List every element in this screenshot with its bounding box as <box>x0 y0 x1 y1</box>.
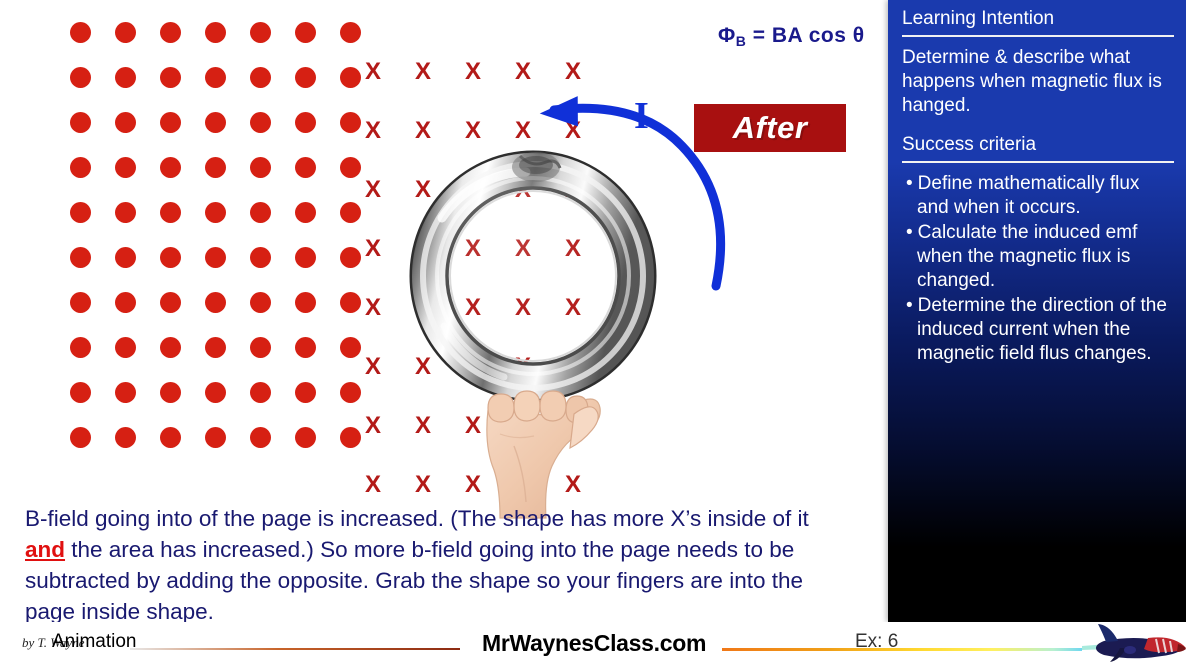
field-dot <box>70 112 91 133</box>
field-dot <box>205 292 226 313</box>
success-criteria-item: Determine the direction of the induced c… <box>902 294 1174 366</box>
field-dot <box>205 247 226 268</box>
explanation-part-1: B-field going into of the page is increa… <box>25 506 503 531</box>
field-dot <box>340 382 361 403</box>
field-dot <box>70 337 91 358</box>
field-dot <box>115 382 136 403</box>
field-cross: X <box>415 119 431 143</box>
field-dot <box>160 247 181 268</box>
field-cross: X <box>365 296 381 320</box>
field-dot <box>250 382 271 403</box>
field-dot <box>340 337 361 358</box>
field-dot <box>250 67 271 88</box>
field-dot <box>295 112 316 133</box>
field-cross: X <box>365 178 381 202</box>
success-criteria-item: Calculate the induced emf when the magne… <box>902 221 1174 293</box>
field-cross: X <box>365 414 381 438</box>
flux-symbol: Φ <box>718 24 736 47</box>
success-criteria-list: Define mathematically flux and when it o… <box>902 172 1174 366</box>
field-dot <box>70 22 91 43</box>
field-dot <box>70 247 91 268</box>
jet-plane-icon <box>1082 622 1186 664</box>
field-dot <box>115 247 136 268</box>
field-dot <box>295 247 316 268</box>
field-dot <box>250 427 271 448</box>
magnetic-field-out-of-page-dots <box>70 22 370 452</box>
learning-intention-body: Determine & describe what happens when m… <box>902 46 1174 118</box>
field-cross: X <box>415 414 431 438</box>
field-dot <box>160 292 181 313</box>
field-dot <box>295 427 316 448</box>
current-label: I <box>634 94 649 138</box>
after-badge: After <box>694 104 846 152</box>
field-dot <box>340 22 361 43</box>
field-dot <box>160 427 181 448</box>
example-number-label: Ex: 6 <box>855 631 898 653</box>
field-dot <box>250 22 271 43</box>
field-cross: X <box>415 473 431 497</box>
field-dot <box>295 292 316 313</box>
field-cross: X <box>365 355 381 379</box>
divider-rule-2 <box>902 161 1174 163</box>
field-cross: X <box>365 473 381 497</box>
success-criteria-item: Define mathematically flux and when it o… <box>902 172 1174 220</box>
field-dot <box>340 247 361 268</box>
field-dot <box>250 202 271 223</box>
field-cross: X <box>465 119 481 143</box>
field-dot <box>205 427 226 448</box>
field-dot <box>115 427 136 448</box>
field-dot <box>160 67 181 88</box>
field-dot <box>295 22 316 43</box>
field-cross: X <box>365 60 381 84</box>
field-dot <box>340 112 361 133</box>
field-dot <box>250 157 271 178</box>
animation-label: Animation <box>52 631 137 653</box>
flux-subscript: B <box>736 33 747 49</box>
field-dot <box>160 112 181 133</box>
field-dot <box>250 337 271 358</box>
learning-intention-heading: Learning Intention <box>902 6 1174 35</box>
field-dot <box>115 22 136 43</box>
field-dot <box>70 427 91 448</box>
field-dot <box>295 157 316 178</box>
field-dot <box>160 202 181 223</box>
field-dot <box>160 157 181 178</box>
field-dot <box>115 67 136 88</box>
field-dot <box>115 337 136 358</box>
field-dot <box>295 67 316 88</box>
field-dot <box>205 382 226 403</box>
after-badge-label: After <box>733 110 808 146</box>
field-dot <box>340 292 361 313</box>
field-cross: X <box>415 60 431 84</box>
field-dot <box>340 67 361 88</box>
field-dot <box>205 112 226 133</box>
field-dot <box>250 112 271 133</box>
field-dot <box>70 67 91 88</box>
explanation-part-3: the area has increased.) So more b-field… <box>25 537 803 624</box>
flux-expression: = BA cos θ <box>753 24 865 47</box>
field-dot <box>295 202 316 223</box>
field-dot <box>70 292 91 313</box>
field-dot <box>160 382 181 403</box>
field-dot <box>160 337 181 358</box>
field-dot <box>115 157 136 178</box>
objectives-sidebar: Learning Intention Determine & describe … <box>888 0 1186 622</box>
field-dot <box>295 337 316 358</box>
field-dot <box>205 67 226 88</box>
field-dot <box>340 157 361 178</box>
field-dot <box>205 202 226 223</box>
field-dot <box>205 22 226 43</box>
explanation-paragraph: B-field going into of the page is increa… <box>25 503 855 627</box>
field-dot <box>70 382 91 403</box>
field-dot <box>115 202 136 223</box>
field-dot <box>160 22 181 43</box>
explanation-part-2: shape has more X’s inside of it <box>503 506 809 531</box>
field-dot <box>70 202 91 223</box>
footer-rule-right <box>722 648 1082 651</box>
field-cross: X <box>515 60 531 84</box>
field-cross: X <box>465 60 481 84</box>
brand-name: MrWaynesClass.com <box>482 630 706 657</box>
field-dot <box>205 157 226 178</box>
field-dot <box>295 382 316 403</box>
field-cross: X <box>365 237 381 261</box>
divider-rule-1 <box>902 35 1174 37</box>
slide-canvas: ΦB = BA cos θ XXXXXXXXXXXXXXXXXXXXXXXXXX… <box>0 0 1186 667</box>
field-dot <box>115 292 136 313</box>
field-dot <box>205 337 226 358</box>
field-cross: X <box>565 60 581 84</box>
field-dot <box>115 112 136 133</box>
field-dot <box>250 292 271 313</box>
footer-rule-left <box>130 648 460 650</box>
field-dot <box>340 427 361 448</box>
field-dot <box>250 247 271 268</box>
field-dot <box>70 157 91 178</box>
explanation-highlight-and: and <box>25 537 65 562</box>
slide-footer: by T. Wayne Animation MrWaynesClass.com … <box>0 622 1186 667</box>
flux-formula: ΦB = BA cos θ <box>718 24 865 49</box>
field-cross: X <box>365 119 381 143</box>
success-criteria-heading: Success criteria <box>902 132 1174 161</box>
field-dot <box>340 202 361 223</box>
